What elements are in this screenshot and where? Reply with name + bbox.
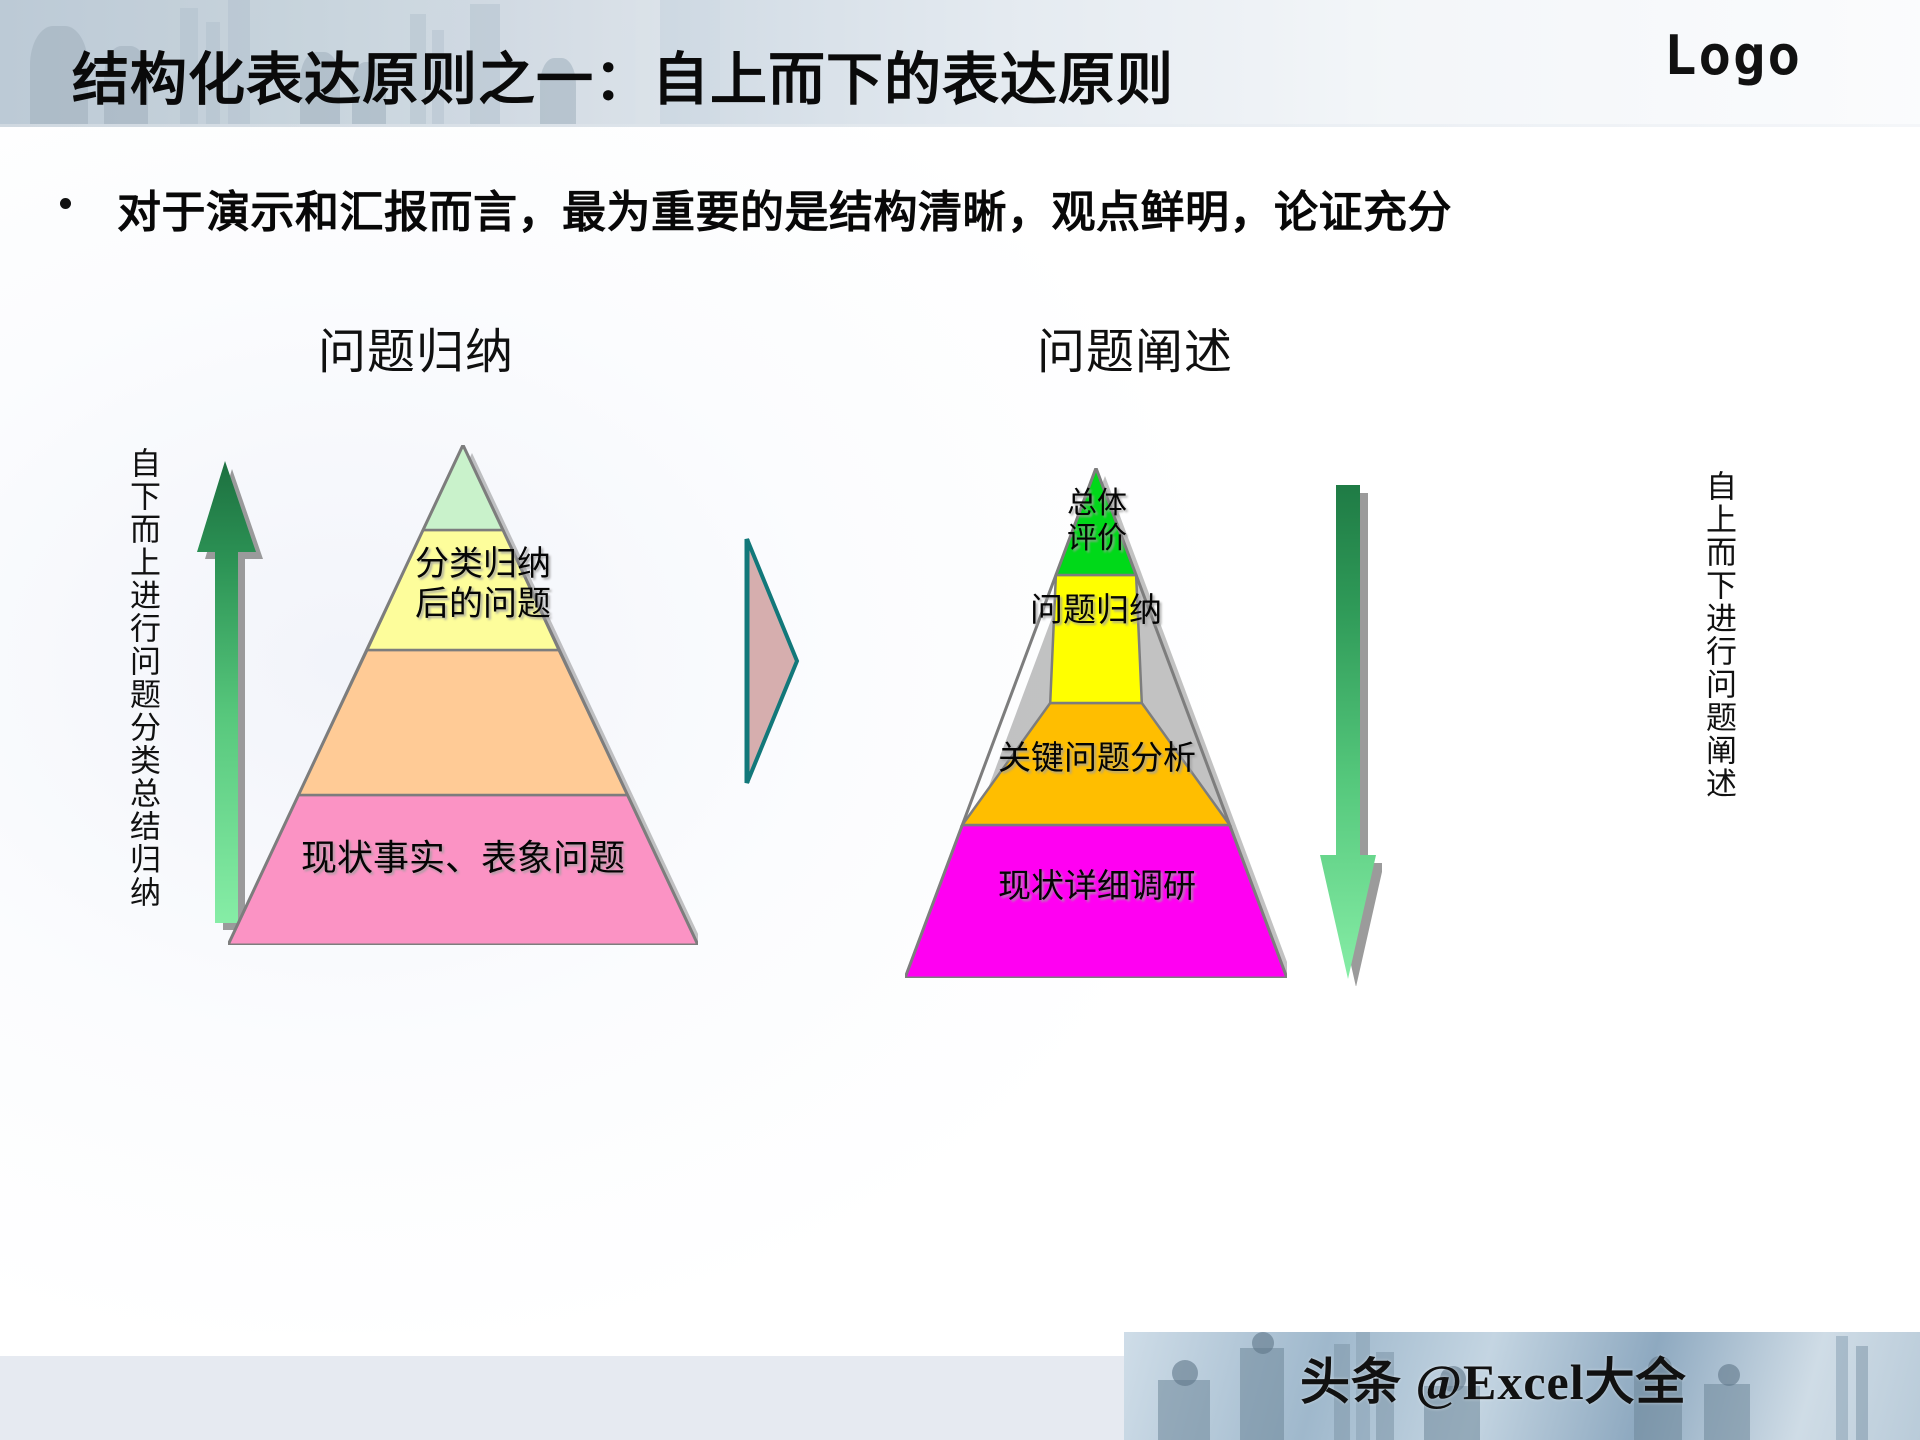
pyramid-left-level-3: [299, 650, 628, 795]
heading-problem-statement: 问题阐述: [1037, 312, 1233, 382]
pyramid-problem-summary: 分类归纳 后的问题 现状事实、表象问题: [228, 445, 698, 945]
pyramid-left-level-4: [228, 795, 698, 945]
arrow-down-icon: [1320, 483, 1382, 986]
header-divider: [0, 124, 1920, 127]
header-band: 结构化表达原则之一：自上而下的表达原则 Logo: [0, 0, 1920, 124]
pyramid-problem-statement: 总体 评价 问题归纳 关键问题分析 现状详细调研: [905, 468, 1287, 978]
pyramid-right-level-1: [1056, 468, 1136, 575]
heading-problem-summary: 问题归纳: [318, 312, 514, 382]
bullet-marker-icon: [60, 198, 71, 209]
annotation-top-down: 自上而下进行问题阐述: [1700, 470, 1736, 870]
pyramid-right-level-2: [1050, 575, 1142, 703]
pyramid-right-level-4: [905, 825, 1287, 978]
watermark: 头条 @Excel大全: [1300, 1342, 1687, 1414]
annotation-bottom-up: 自下而上进行问题分类总结归纳: [124, 447, 160, 977]
footer-band: 头条 @Excel大全: [0, 1332, 1920, 1440]
logo: Logo: [1664, 24, 1802, 87]
slide-canvas: 结构化表达原则之一：自上而下的表达原则 Logo 对于演示和汇报而言，最为重要的…: [0, 0, 1920, 1440]
page-title: 结构化表达原则之一：自上而下的表达原则: [72, 34, 1174, 116]
pyramid-left-level-1: [423, 445, 503, 530]
footer-left-fill: [0, 1356, 1124, 1440]
bullet-text: 对于演示和汇报而言，最为重要的是结构清晰，观点鲜明，论证充分: [117, 176, 1452, 240]
arrow-right-icon: [744, 536, 800, 786]
bullet-row: 对于演示和汇报而言，最为重要的是结构清晰，观点鲜明，论证充分: [60, 176, 1660, 236]
